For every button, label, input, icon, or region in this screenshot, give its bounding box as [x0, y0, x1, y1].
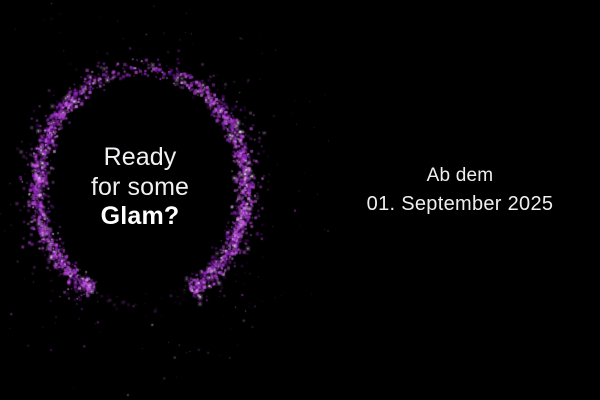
date-block: Ab dem 01. September 2025 [340, 163, 580, 218]
date-label: Ab dem [340, 163, 580, 190]
teaser-stage: Ready for some Glam? Ab dem 01. Septembe… [0, 0, 600, 400]
headline-block: Ready for some Glam? [40, 143, 240, 232]
date-value: 01. September 2025 [340, 190, 580, 218]
headline-line-3-accent: Glam? [40, 202, 240, 232]
headline-line-1: Ready [40, 143, 240, 173]
headline-line-2: for some [40, 173, 240, 203]
